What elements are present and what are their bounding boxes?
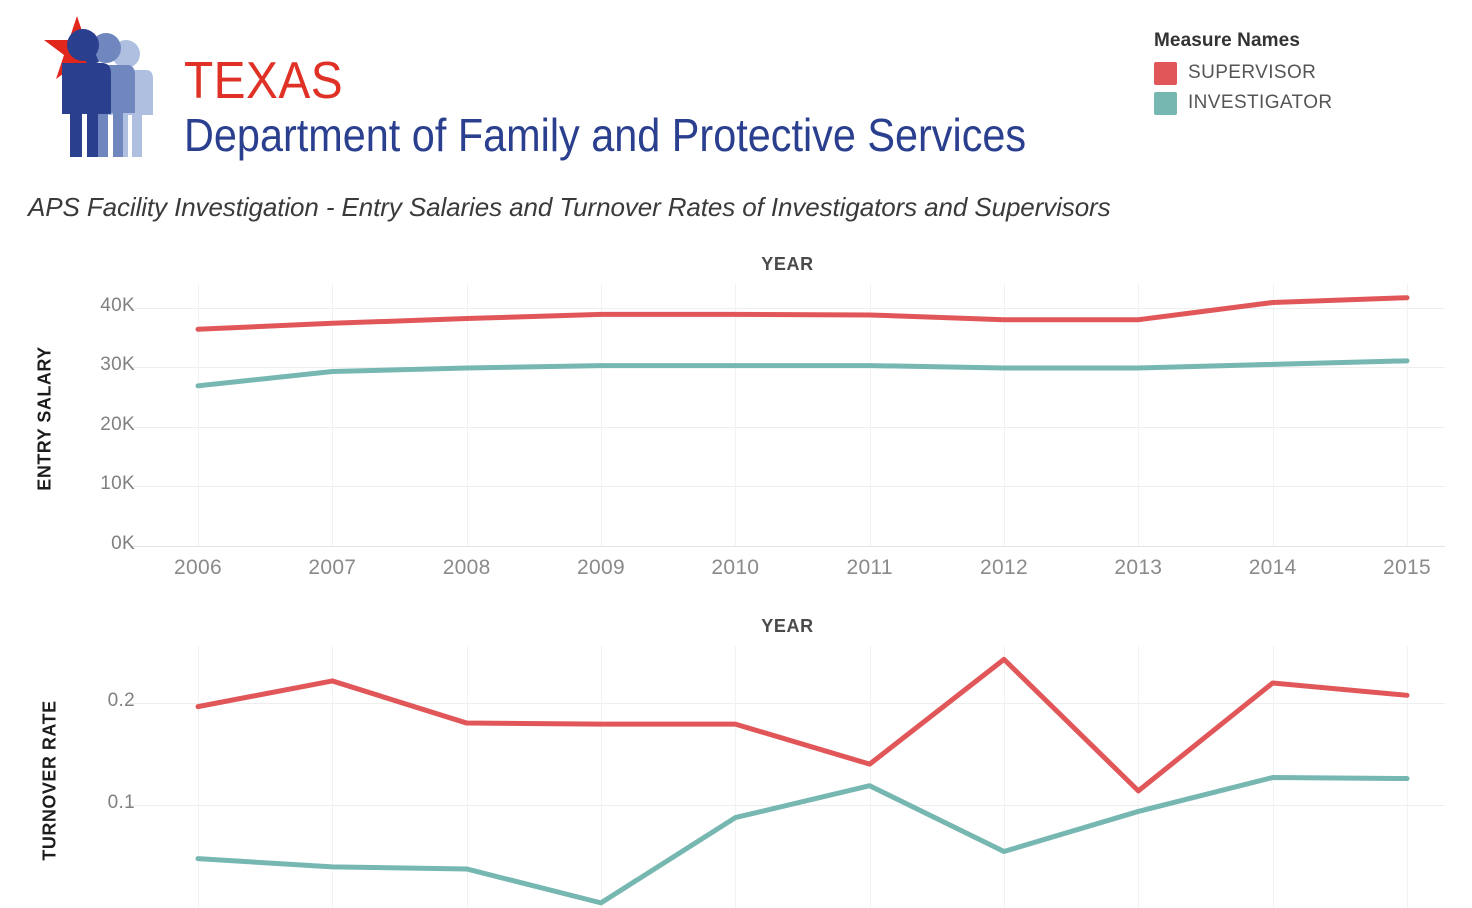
legend-label-investigator: INVESTIGATOR [1188,92,1333,114]
y-axis-tick-label: 10K [15,473,135,495]
legend: Measure Names SUPERVISOR INVESTIGATOR [1154,30,1394,118]
x-axis-tick-label: 2011 [800,556,940,580]
x-axis-line-salary [130,546,1445,547]
legend-label-supervisor: SUPERVISOR [1188,62,1316,84]
panel-entry-salary: YEAR ENTRY SALARY 0K10K20K30K40K20062007… [0,248,1472,596]
y-axis-title-turnover-rate: TURNOVER RATE [40,686,61,876]
line-series-supervisor[interactable] [198,659,1407,791]
y-axis-tick-label: 30K [15,354,135,376]
legend-swatch-investigator [1154,92,1177,115]
line-series-investigator[interactable] [198,778,1407,903]
x-axis-tick-label: 2015 [1337,556,1472,580]
agency-logo: TEXAS Department of Family and Protectiv… [44,12,1024,164]
legend-title: Measure Names [1154,30,1394,52]
agency-logo-text: TEXAS Department of Family and Protectiv… [184,56,1044,162]
page-header: TEXAS Department of Family and Protectiv… [0,0,1472,180]
panel-header-year-salary: YEAR [130,254,1445,275]
series-layer [130,646,1445,908]
y-axis-tick-label: 40K [15,295,135,317]
logo-line-department: Department of Family and Protective Serv… [184,108,958,162]
line-series-investigator[interactable] [198,361,1407,386]
y-axis-tick-label: 0.2 [15,690,135,712]
x-axis-tick-label: 2010 [665,556,805,580]
plot-area-entry-salary [130,284,1445,546]
y-axis-tick-label: 0.1 [15,792,135,814]
series-layer [130,284,1445,546]
y-axis-tick-label: 20K [15,414,135,436]
legend-item-supervisor[interactable]: SUPERVISOR [1154,58,1394,88]
x-axis-tick-label: 2009 [531,556,671,580]
x-axis-tick-label: 2012 [934,556,1074,580]
x-axis-tick-label: 2008 [397,556,537,580]
x-axis-tick-label: 2006 [128,556,268,580]
line-series-supervisor[interactable] [198,298,1407,330]
x-axis-tick-label: 2007 [262,556,402,580]
legend-swatch-supervisor [1154,62,1177,85]
logo-line-texas: TEXAS [184,56,975,106]
y-axis-tick-label: 0K [15,533,135,555]
texas-dfps-logo-icon [44,12,184,157]
panel-header-year-turnover: YEAR [130,616,1445,637]
legend-item-investigator[interactable]: INVESTIGATOR [1154,88,1394,118]
x-axis-tick-label: 2013 [1068,556,1208,580]
plot-area-turnover-rate [130,646,1445,908]
x-axis-tick-label: 2014 [1203,556,1343,580]
panel-turnover-rate: YEAR TURNOVER RATE 0.10.2 [0,610,1472,908]
chart-title: APS Facility Investigation - Entry Salar… [28,192,1111,223]
